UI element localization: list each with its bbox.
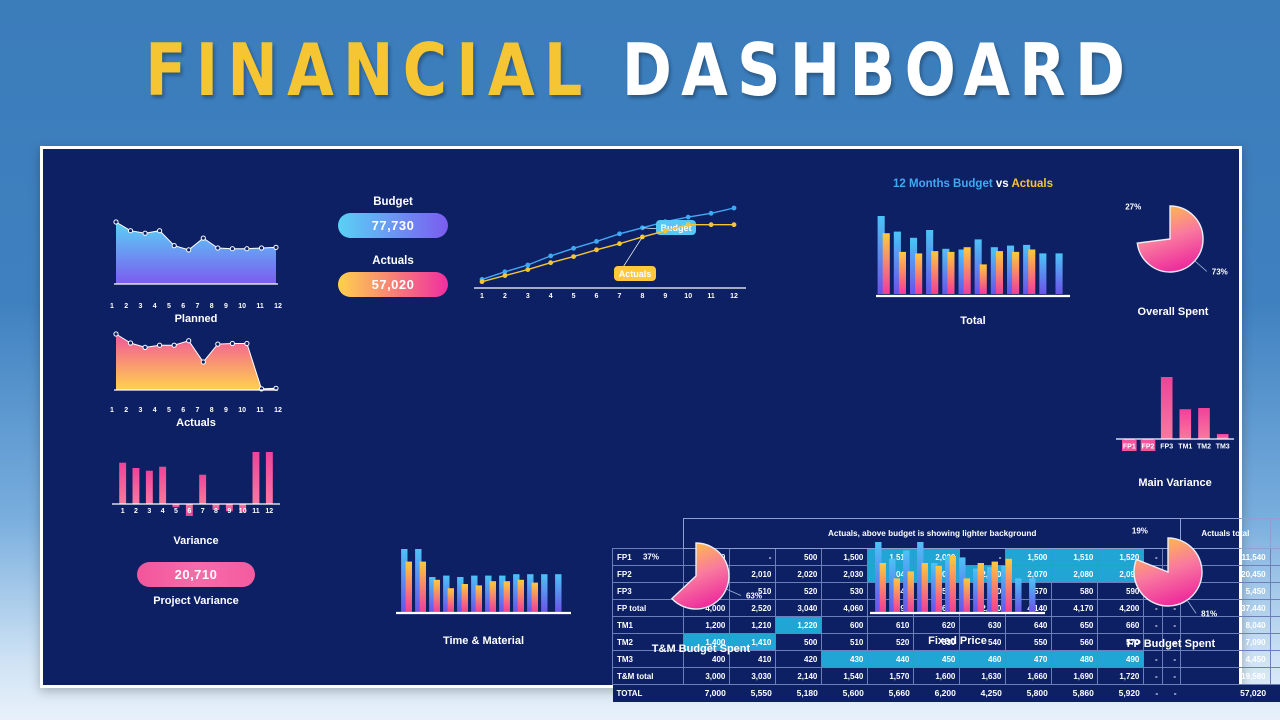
data-point <box>709 211 714 216</box>
data-point <box>172 343 176 347</box>
table-cell-budget: 11,460 <box>1270 549 1280 566</box>
data-point <box>617 231 622 236</box>
table-cell: 500 <box>776 549 822 566</box>
table-cell: 460 <box>960 651 1006 668</box>
axis-tick: 5 <box>572 293 576 300</box>
table-total-cell: 5,920 <box>1098 685 1144 702</box>
pie-label-rest: 27% <box>1125 203 1141 212</box>
table-total-row: TOTAL7,0005,5505,1805,6005,6606,2004,250… <box>613 685 1280 702</box>
actuals-bar <box>894 578 900 612</box>
actuals-bar <box>434 580 440 612</box>
data-point <box>245 247 249 251</box>
pie-label-main: 73% <box>1212 267 1228 276</box>
actuals-bar <box>883 233 890 294</box>
axis-tick: 8 <box>640 293 644 300</box>
table-cell: 650 <box>1052 617 1098 634</box>
data-point <box>128 341 132 345</box>
overall-spent-caption: Overall Spent <box>1108 306 1238 318</box>
fixed-price-svg <box>860 536 1055 621</box>
actuals-bar <box>915 253 922 294</box>
table-cell-budget: 18,660 <box>1270 583 1280 600</box>
axis-tick: 4 <box>549 293 553 300</box>
variance-bar <box>199 475 206 504</box>
planned-caption: Planned <box>106 313 286 325</box>
axis-tick: 7 <box>196 407 200 414</box>
table-total-cell: 5,600 <box>822 685 868 702</box>
axis-tick: 11 <box>252 508 260 515</box>
tm-budget-spent-caption: T&M Budget Spent <box>636 643 766 655</box>
axis-tick: 9 <box>227 508 231 515</box>
data-point <box>114 220 118 224</box>
kpi-actuals: Actuals 57,020 <box>338 255 448 297</box>
line-chart-svg: BudgetActuals 123456789101112 <box>464 194 754 304</box>
budget-bar <box>1029 578 1035 612</box>
main-variance-svg: FP1FP2FP3TM1TM2TM3 <box>1110 364 1240 464</box>
actuals-bar <box>908 571 914 612</box>
variance-bar <box>133 468 140 504</box>
actuals-bar <box>462 584 468 612</box>
axis-tick: 9 <box>224 303 228 310</box>
data-point <box>114 332 118 336</box>
kpi-budget: Budget 77,730 <box>338 196 448 238</box>
axis-tick: 2 <box>503 293 507 300</box>
axis-tick: 7 <box>618 293 622 300</box>
table-cell-actuals-total: 19,580 <box>1181 668 1271 685</box>
axis-tick: 4 <box>153 407 157 414</box>
data-point <box>548 260 553 265</box>
table-cell-budget: 31,270 <box>1270 668 1280 685</box>
data-point <box>617 241 622 246</box>
data-point <box>187 339 191 343</box>
axis-tick: 2 <box>124 407 128 414</box>
axis-tick: 12 <box>274 303 282 310</box>
axis-tick: 7 <box>196 303 200 310</box>
data-point <box>732 206 737 211</box>
actuals-bar <box>504 581 510 612</box>
table-cell: 1,570 <box>868 668 914 685</box>
axis-tick: 5 <box>174 508 178 515</box>
axis-tick: TM2 <box>1197 444 1211 451</box>
table-cell: 1,660 <box>1006 668 1052 685</box>
table-cell: - <box>1162 668 1180 685</box>
table-cell: - <box>1144 651 1162 668</box>
dashboard-panel: 123456789101112 Planned 123456789101112 … <box>40 146 1242 688</box>
data-point <box>732 222 737 227</box>
actuals-bar <box>978 563 984 612</box>
data-point <box>594 247 599 252</box>
data-point <box>548 254 553 259</box>
table-cell: 1,220 <box>776 617 822 634</box>
pie-label-main: 81% <box>1201 609 1217 618</box>
table-total-cell: 6,200 <box>914 685 960 702</box>
data-point <box>571 246 576 251</box>
title-word-dashboard: DASHBOARD <box>622 28 1135 112</box>
chart-main-variance: FP1FP2FP3TM1TM2TM3 Main Variance <box>1110 364 1240 489</box>
axis-tick: 1 <box>110 407 114 414</box>
axis-tick: 11 <box>256 303 263 310</box>
page-header: FINANCIAL DASHBOARD <box>0 0 1280 140</box>
data-point <box>216 246 220 250</box>
main-variance-bar <box>1161 377 1173 439</box>
variance-bars-svg: 123456789101112 <box>106 442 286 528</box>
project-variance-caption: Project Variance <box>137 595 255 607</box>
axis-tick: 3 <box>147 508 151 515</box>
axis-tick: 5 <box>167 407 171 414</box>
actuals-bar <box>931 251 938 294</box>
months-title-part2: Actuals <box>1011 178 1053 190</box>
pie-leader <box>1186 599 1196 613</box>
axis-tick: 8 <box>214 508 218 515</box>
data-point <box>230 341 234 345</box>
actuals-bar <box>922 563 928 612</box>
chart-variance: 123456789101112 Variance 20,710 Project … <box>106 442 286 607</box>
fp-budget-spent-pie-svg: 81%19% <box>1106 526 1236 631</box>
table-cell: 2,020 <box>776 566 822 583</box>
fp-budget-spent-caption: FP Budget Spent <box>1106 638 1236 650</box>
pie-leader <box>725 589 741 596</box>
axis-tick: 5 <box>167 303 171 310</box>
months-bars-svg <box>848 206 1098 306</box>
table-cell: 560 <box>1052 634 1098 651</box>
table-cell: 440 <box>868 651 914 668</box>
months-chart-title: 12 Months Budget vs Actuals <box>848 178 1098 190</box>
budget-bar <box>555 574 561 612</box>
axis-tick: 2 <box>124 303 128 310</box>
project-variance-value: 20,710 <box>137 562 255 587</box>
chart-fp-budget-spent: 81%19% FP Budget Spent <box>1106 526 1236 650</box>
actuals-bar <box>490 581 496 612</box>
table-cell: 470 <box>1006 651 1052 668</box>
table-total-cell: - <box>1162 685 1180 702</box>
variance-bar <box>266 452 273 504</box>
actuals-bar <box>1028 250 1035 295</box>
data-point <box>663 228 668 233</box>
data-point <box>571 254 576 259</box>
months-title-vs: vs <box>996 178 1009 190</box>
actuals-bar <box>936 566 942 612</box>
data-point <box>259 246 263 250</box>
table-cell-budget: 46,460 <box>1270 600 1280 617</box>
axis-tick: 6 <box>181 303 185 310</box>
table-total-cell: 5,800 <box>1006 685 1052 702</box>
budget-bar <box>1056 253 1063 294</box>
table-cell: 450 <box>914 651 960 668</box>
data-point <box>480 279 485 284</box>
axis-tick: 1 <box>110 303 114 310</box>
table-cell: 430 <box>822 651 868 668</box>
table-cell: 3,030 <box>730 668 776 685</box>
axis-tick: 8 <box>210 303 214 310</box>
table-cell: 1,540 <box>822 668 868 685</box>
table-cell: 1,630 <box>960 668 1006 685</box>
tm-budget-spent-pie-svg: 63%37% <box>636 532 766 632</box>
chart-12months: 12 Months Budget vs Actuals Total <box>848 178 1098 327</box>
data-point <box>503 273 508 278</box>
actuals-bar <box>899 252 906 294</box>
months-title-part1: 12 Months Budget <box>893 178 993 190</box>
axis-tick: 9 <box>224 407 228 414</box>
data-point <box>594 239 599 244</box>
actuals-bar <box>1012 252 1019 294</box>
data-point <box>640 235 645 240</box>
data-point <box>172 244 176 248</box>
pie-slice-main <box>1134 538 1202 606</box>
data-point <box>686 215 691 220</box>
axis-tick: 3 <box>139 407 143 414</box>
table-total-budget: 77,730 <box>1270 685 1280 702</box>
axis-tick: TM1 <box>1178 444 1192 451</box>
table-total-actuals: 57,020 <box>1181 685 1271 702</box>
table-cell-actuals-total: 4,450 <box>1181 651 1271 668</box>
kpi-budget-value: 77,730 <box>338 213 448 238</box>
variance-bar <box>253 452 260 504</box>
budget-bar <box>1015 578 1021 612</box>
axis-tick: 7 <box>201 508 205 515</box>
variance-caption: Variance <box>106 535 286 547</box>
table-total-cell: 5,550 <box>730 685 776 702</box>
actuals-bar <box>476 585 482 612</box>
data-point <box>274 245 278 249</box>
table-total-label: TOTAL <box>613 685 684 702</box>
data-point <box>201 360 205 364</box>
axis-tick: TM3 <box>1216 444 1230 451</box>
data-point <box>525 263 530 268</box>
data-point <box>158 229 162 233</box>
axis-tick: 4 <box>153 303 157 310</box>
time-material-svg <box>386 536 581 621</box>
data-point <box>143 345 147 349</box>
table-cell: 420 <box>776 651 822 668</box>
actuals-area-caption: Actuals <box>106 417 286 429</box>
actuals-bar <box>947 252 954 294</box>
data-point <box>158 343 162 347</box>
table-cell: 2,080 <box>1052 566 1098 583</box>
table-cell: 1,510 <box>1052 549 1098 566</box>
table-cell: 580 <box>1052 583 1098 600</box>
pie-slice-main <box>1137 206 1203 272</box>
table-total-cell: 5,860 <box>1052 685 1098 702</box>
page-title: FINANCIAL DASHBOARD <box>145 34 1134 106</box>
data-point <box>709 222 714 227</box>
actuals-area-svg <box>106 326 286 401</box>
axis-tick: FP2 <box>1142 444 1155 451</box>
table-cell: 500 <box>776 634 822 651</box>
axis-tick: 6 <box>187 508 191 515</box>
axis-tick: 1 <box>480 293 484 300</box>
area-fill <box>116 222 276 284</box>
table-cell: 1,720 <box>1098 668 1144 685</box>
axis-tick: 3 <box>526 293 530 300</box>
variance-bar <box>146 471 153 504</box>
data-point <box>686 222 691 227</box>
actuals-bar <box>880 563 886 612</box>
table-cell: - <box>1144 668 1162 685</box>
actuals-bar <box>532 583 538 612</box>
data-point <box>245 341 249 345</box>
budget-bar <box>1039 253 1046 294</box>
months-caption: Total <box>848 315 1098 327</box>
main-variance-bar <box>1198 408 1210 439</box>
axis-tick: 8 <box>210 407 214 414</box>
kpi-budget-label: Budget <box>338 196 448 208</box>
axis-tick: 11 <box>256 407 263 414</box>
actuals-bar <box>964 247 971 294</box>
pie-label-rest: 37% <box>643 553 659 562</box>
table-cell: 490 <box>1098 651 1144 668</box>
main-variance-bar <box>1217 434 1229 439</box>
table-cell: 2,140 <box>776 668 822 685</box>
table-cell: 3,040 <box>776 600 822 617</box>
actuals-bar <box>950 556 956 612</box>
variance-bar <box>119 463 126 504</box>
table-row: T&M total3,0003,0302,1401,5401,5701,6001… <box>613 668 1280 685</box>
chart-planned: 123456789101112 Planned <box>106 212 286 325</box>
overall-spent-pie-svg: 73%27% <box>1108 194 1238 299</box>
variance-bar <box>159 467 166 504</box>
axis-tick: 6 <box>595 293 599 300</box>
chart-time-material: Time & Material <box>386 536 581 647</box>
data-point <box>525 267 530 272</box>
data-point <box>143 231 147 235</box>
chart-actuals-area: 123456789101112 Actuals <box>106 326 286 429</box>
actuals-bar <box>964 578 970 612</box>
table-cell-budget: 13,370 <box>1270 617 1280 634</box>
series-label: Actuals <box>619 269 652 279</box>
line-series <box>482 225 734 282</box>
fixed-price-caption: Fixed Price <box>860 635 1055 647</box>
line-series <box>482 208 734 279</box>
table-cell: - <box>1162 651 1180 668</box>
pie-label-main: 63% <box>746 592 762 601</box>
axis-tick: 12 <box>274 407 282 414</box>
axis-tick: 2 <box>134 508 138 515</box>
actuals-bar <box>518 580 524 612</box>
table-cell: 1,690 <box>1052 668 1098 685</box>
actuals-bar <box>992 562 998 612</box>
budget-bar <box>541 574 547 612</box>
pie-leader <box>1194 260 1207 271</box>
table-total-cell: 5,660 <box>868 685 914 702</box>
chart-overall-spent: 73%27% Overall Spent <box>1108 194 1238 318</box>
table-cell: 1,600 <box>914 668 960 685</box>
table-cell: 480 <box>1052 651 1098 668</box>
actuals-bar <box>406 562 412 612</box>
main-variance-caption: Main Variance <box>1110 477 1240 489</box>
pie-slice-main <box>672 543 729 609</box>
data-point <box>187 248 191 252</box>
data-point <box>216 342 220 346</box>
actuals-bar <box>1006 559 1012 612</box>
actuals-bar <box>420 562 426 612</box>
table-header-budget: Budget <box>1270 519 1280 549</box>
time-material-caption: Time & Material <box>386 635 581 647</box>
chart-budget-vs-actuals-line: BudgetActuals 123456789101112 <box>464 194 754 309</box>
axis-tick: 3 <box>139 303 143 310</box>
actuals-bar <box>980 264 987 294</box>
data-point <box>201 236 205 240</box>
actuals-bar <box>448 588 454 612</box>
chart-fixed-price: Fixed Price <box>860 536 1055 647</box>
chart-tm-budget-spent: 63%37% T&M Budget Spent <box>636 532 766 655</box>
table-total-cell: 7,000 <box>684 685 730 702</box>
axis-tick: 4 <box>161 508 165 515</box>
actuals-bar <box>996 251 1003 294</box>
table-cell-budget: 12,660 <box>1270 634 1280 651</box>
axis-tick: 9 <box>663 293 667 300</box>
table-cell-budget: 5,240 <box>1270 651 1280 668</box>
axis-tick: 12 <box>265 508 273 515</box>
kpi-actuals-label: Actuals <box>338 255 448 267</box>
main-variance-bar <box>1180 409 1192 439</box>
table-cell: 520 <box>776 583 822 600</box>
data-point <box>230 247 234 251</box>
table-cell: 3,000 <box>684 668 730 685</box>
table-cell: 4,170 <box>1052 600 1098 617</box>
axis-tick: FP3 <box>1160 444 1173 451</box>
axis-tick: 11 <box>707 293 715 300</box>
axis-tick: 1 <box>121 508 125 515</box>
table-row-label: T&M total <box>613 668 684 685</box>
area-fill <box>116 334 276 390</box>
axis-tick: 6 <box>181 407 185 414</box>
axis-tick: 10 <box>684 293 692 300</box>
table-total-cell: 4,250 <box>960 685 1006 702</box>
title-word-financial: FINANCIAL <box>145 28 591 112</box>
axis-tick: FP1 <box>1123 444 1136 451</box>
planned-area-svg <box>106 212 286 297</box>
axis-tick: 10 <box>239 508 247 515</box>
axis-tick: 10 <box>238 303 246 310</box>
kpi-actuals-value: 57,020 <box>338 272 448 297</box>
table-total-cell: 5,180 <box>776 685 822 702</box>
axis-tick: 10 <box>238 407 246 414</box>
table-total-cell: - <box>1144 685 1162 702</box>
data-point <box>128 229 132 233</box>
table-cell-budget: 16,340 <box>1270 566 1280 583</box>
axis-tick: 12 <box>730 293 738 300</box>
pie-label-rest: 19% <box>1132 527 1148 536</box>
